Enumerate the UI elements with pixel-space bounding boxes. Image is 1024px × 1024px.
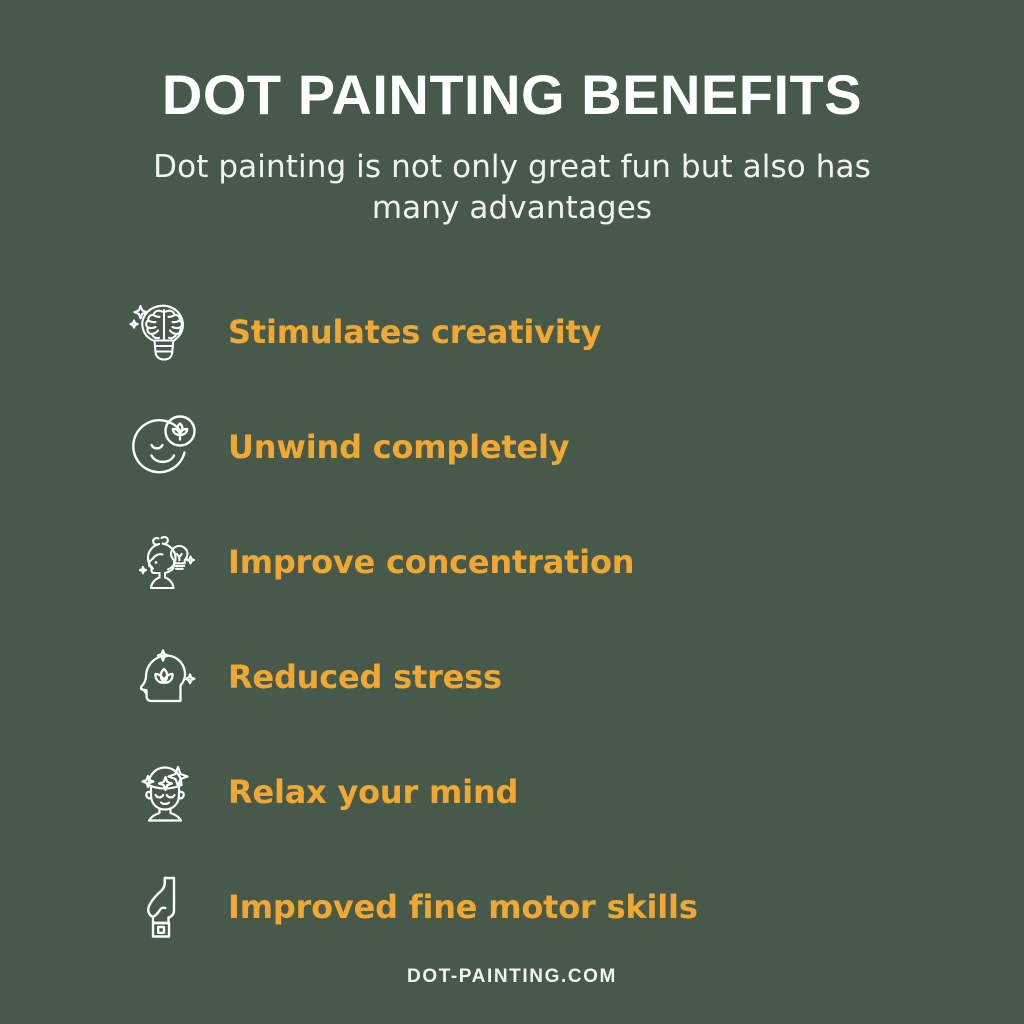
list-item: Unwind completely — [128, 390, 1024, 505]
calm-face-stars-icon — [128, 755, 202, 829]
header: DOT PAINTING BENEFITS Dot painting is no… — [0, 0, 1024, 229]
benefit-label: Relax your mind — [228, 773, 518, 811]
benefit-label: Reduced stress — [228, 658, 502, 696]
benefit-label: Unwind completely — [228, 428, 569, 466]
hand-pinching-bead-icon — [128, 870, 202, 944]
list-item: Improved fine motor skills — [128, 850, 1024, 965]
lightbulb-brain-sparkle-icon — [128, 295, 202, 369]
list-item: Relax your mind — [128, 735, 1024, 850]
page-subtitle: Dot painting is not only great fun but a… — [142, 147, 882, 229]
benefit-label: Improved fine motor skills — [228, 888, 698, 926]
head-profile-lotus-sparkle-icon — [128, 640, 202, 714]
list-item: Reduced stress — [128, 620, 1024, 735]
list-item: Stimulates creativity — [128, 275, 1024, 390]
website-url: DOT-PAINTING.COM — [407, 966, 617, 987]
infographic-poster: DOT PAINTING BENEFITS Dot painting is no… — [0, 0, 1024, 1024]
benefit-label: Stimulates creativity — [228, 313, 601, 351]
page-title: DOT PAINTING BENEFITS — [0, 66, 1024, 125]
smiling-face-flower-icon — [128, 410, 202, 484]
head-profile-lightbulb-icon — [128, 525, 202, 599]
benefits-list: Stimulates creativity — [0, 275, 1024, 965]
list-item: Improve concentration — [128, 505, 1024, 620]
footer: DOT-PAINTING.COM — [0, 966, 1024, 988]
benefit-label: Improve concentration — [228, 543, 634, 581]
